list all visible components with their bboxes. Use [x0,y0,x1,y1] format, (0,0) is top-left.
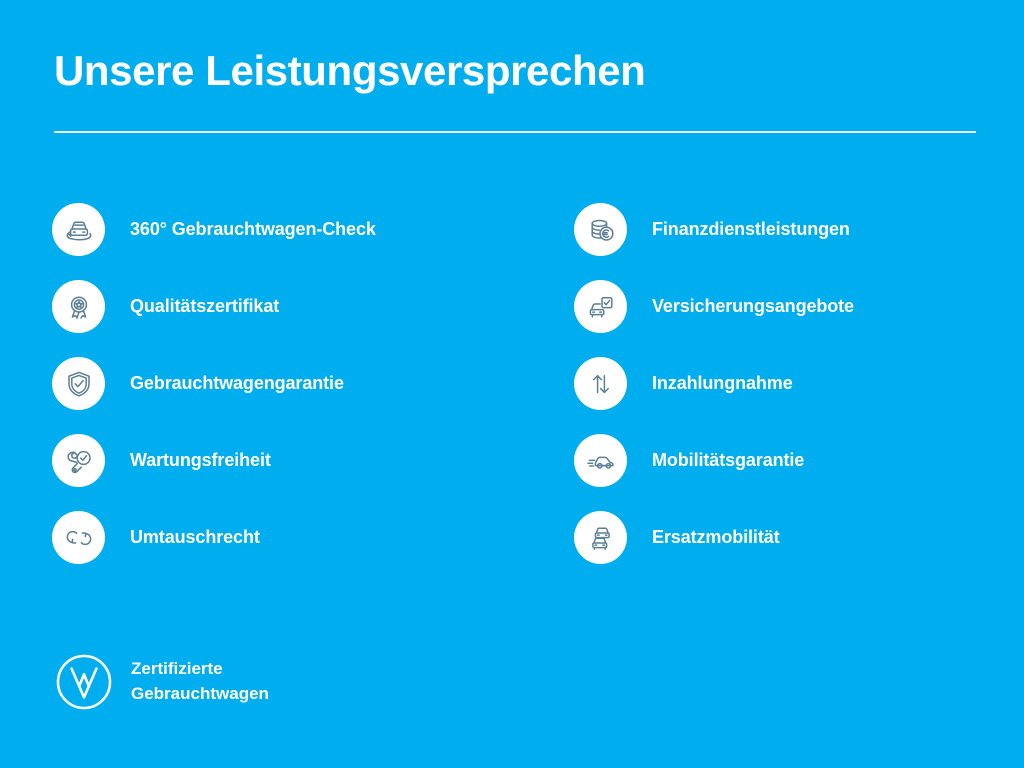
slide-root: Unsere Leistungsversprechen 360° Gebrauc… [0,0,1024,768]
benefit-label: Qualitätszertifikat [130,296,279,317]
benefit-label: Umtauschrecht [130,527,260,548]
benefit-label: Mobilitätsgarantie [652,450,804,471]
title-divider [54,131,976,133]
benefit-item-qualitaetszertifikat[interactable]: Qualitätszertifikat [52,280,482,333]
two-cars-icon [574,511,627,564]
benefit-item-360-check[interactable]: 360° Gebrauchtwagen-Check [52,203,482,256]
coins-euro-icon [574,203,627,256]
header: Unsere Leistungsversprechen [54,48,978,94]
benefit-item-wartungsfreiheit[interactable]: Wartungsfreiheit [52,434,482,487]
benefit-item-ersatzmobilitaet[interactable]: Ersatzmobilität [574,511,1004,564]
brand-text: Zertifizierte Gebrauchtwagen [131,657,269,706]
brand-text-line2: Gebrauchtwagen [131,682,269,707]
footer-brand: Zertifizierte Gebrauchtwagen [54,652,269,712]
benefit-item-inzahlungnahme[interactable]: Inzahlungnahme [574,357,1004,410]
shield-check-icon [52,357,105,410]
benefit-label: Finanzdienstleistungen [652,219,850,240]
wrench-check-icon [52,434,105,487]
benefit-item-finanzdienstleistungen[interactable]: Finanzdienstleistungen [574,203,1004,256]
benefit-item-mobilitaetsgarantie[interactable]: Mobilitätsgarantie [574,434,1004,487]
car-motion-icon [574,434,627,487]
benefits-column-left: 360° Gebrauchtwagen-Check Qualitätszerti… [52,203,482,588]
arrows-up-down-icon [574,357,627,410]
benefit-label: Inzahlungnahme [652,373,793,394]
benefit-label: Ersatzmobilität [652,527,780,548]
brand-text-line1: Zertifizierte [131,657,269,682]
benefit-item-versicherungsangebote[interactable]: Versicherungsangebote [574,280,1004,333]
benefit-label: Gebrauchtwagengarantie [130,373,344,394]
benefit-item-umtauschrecht[interactable]: Umtauschrecht [52,511,482,564]
benefit-label: Wartungsfreiheit [130,450,271,471]
car-360-check-icon [52,203,105,256]
benefit-label: 360° Gebrauchtwagen-Check [130,219,376,240]
award-rosette-icon [52,280,105,333]
car-document-check-icon [574,280,627,333]
benefit-item-gebrauchtwagengarantie[interactable]: Gebrauchtwagengarantie [52,357,482,410]
benefit-label: Versicherungsangebote [652,296,854,317]
exchange-arrows-icon [52,511,105,564]
page-title: Unsere Leistungsversprechen [54,48,978,94]
vw-logo-icon [54,652,114,712]
benefits-column-right: Finanzdienstleistungen Versicherungsange… [574,203,1004,588]
